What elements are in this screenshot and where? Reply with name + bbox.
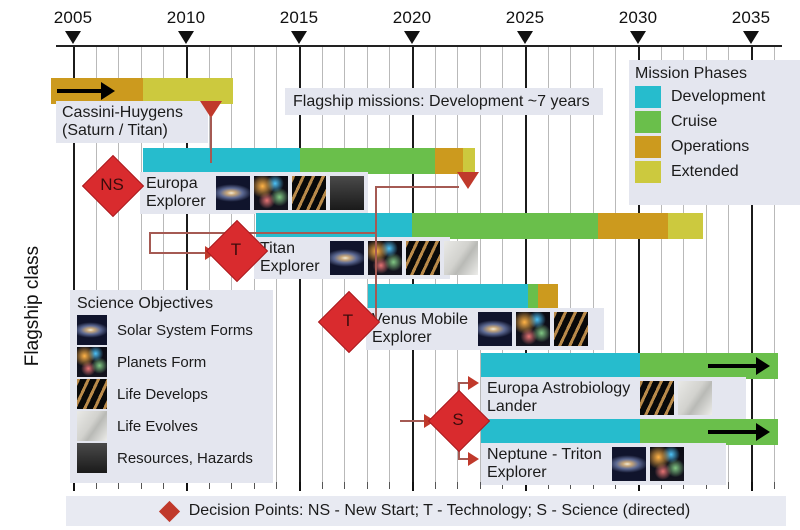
mission-bar-segment-cruise[interactable]	[412, 213, 598, 239]
legend-title: Mission Phases	[635, 65, 794, 83]
minor-tick	[276, 482, 277, 489]
minor-tick	[728, 482, 729, 489]
axis-tick-label-2015: 2015	[280, 8, 319, 28]
astronaut-thumbnail	[330, 176, 364, 210]
minor-tick	[186, 482, 188, 491]
legend-swatch-extended	[635, 161, 661, 183]
mission-name: Titan Explorer	[260, 240, 320, 276]
minor-tick	[163, 482, 164, 489]
axis-tick-marker-2035	[743, 31, 759, 44]
science-objective-label: Resources, Hazards	[117, 450, 253, 467]
legend-item[interactable]: Cruise	[635, 111, 794, 133]
astronaut-thumbnail	[77, 443, 107, 473]
continuation-arrow-icon	[708, 357, 770, 375]
mission-bar-segment-development[interactable]	[143, 148, 300, 174]
science-objectives-panel: Science Objectives Solar System FormsPla…	[70, 290, 273, 483]
planets-thumbnail	[368, 241, 402, 275]
objective-thumbnail-strip	[478, 312, 588, 346]
science-objective-label: Planets Form	[117, 354, 206, 371]
mission-bar-segment-operations[interactable]	[538, 284, 558, 310]
dna-thumbnail	[640, 381, 674, 415]
minor-tick	[254, 482, 255, 489]
minor-tick	[118, 482, 119, 489]
connector-ns-europa	[210, 117, 212, 163]
fossil-thumbnail	[444, 241, 478, 275]
galaxy-thumbnail	[216, 176, 250, 210]
legend-panel: Mission Phases DevelopmentCruiseOperatio…	[629, 60, 800, 205]
axis-tick-marker-2015	[291, 31, 307, 44]
mission-name: Cassini-Huygens (Saturn / Titan)	[62, 104, 183, 140]
minor-tick	[774, 482, 775, 489]
legend-label: Operations	[671, 138, 749, 156]
connector-europa-titan-h1	[149, 232, 377, 234]
mission-bar-segment-cruise[interactable]	[300, 148, 435, 174]
mission-name: Neptune - Triton Explorer	[487, 446, 602, 482]
legend-swatch-operations	[635, 136, 661, 158]
planets-thumbnail	[516, 312, 550, 346]
fossil-thumbnail	[678, 381, 712, 415]
science-objective-label: Life Evolves	[117, 418, 198, 435]
minor-tick	[344, 482, 345, 489]
legend-item[interactable]: Development	[635, 86, 794, 108]
decision-diamond-icon	[159, 500, 180, 521]
continuation-arrow-icon	[708, 423, 770, 441]
science-objective-label: Solar System Forms	[117, 322, 253, 339]
axis-tick-marker-2010	[178, 31, 194, 44]
science-objective-item[interactable]: Planets Form	[77, 347, 266, 377]
science-objective-item[interactable]: Solar System Forms	[77, 315, 266, 345]
objective-thumbnail-strip	[640, 381, 712, 415]
minor-tick	[457, 482, 458, 489]
galaxy-thumbnail	[330, 241, 364, 275]
mission-timeline-chart: Flagship class 2005201020152020202520302…	[0, 0, 800, 530]
europa-end-marker	[457, 172, 479, 189]
axis-tick-marker-2025	[517, 31, 533, 44]
connector-arrow-lander	[468, 376, 479, 390]
mission-bar-segment-development[interactable]	[256, 213, 412, 239]
mission-bar-segment-development[interactable]	[368, 284, 528, 310]
science-objectives-title: Science Objectives	[77, 295, 266, 313]
dna-thumbnail	[406, 241, 440, 275]
axis-tick-marker-2020	[404, 31, 420, 44]
mission-label-box[interactable]: Venus Mobile Explorer	[366, 308, 604, 350]
mission-bar-segment-development[interactable]	[481, 353, 640, 379]
legend-swatch-development	[635, 86, 661, 108]
connector-venus-h	[375, 186, 459, 188]
legend-item[interactable]: Operations	[635, 136, 794, 158]
mission-label-box[interactable]: Neptune - Triton Explorer	[481, 443, 726, 485]
galaxy-thumbnail	[77, 315, 107, 345]
dna-thumbnail	[77, 379, 107, 409]
objective-thumbnail-strip	[216, 176, 364, 210]
minor-tick	[209, 482, 210, 489]
galaxy-thumbnail	[612, 447, 646, 481]
connector-venus-v	[375, 186, 377, 319]
mission-bar-segment-operations[interactable]	[435, 148, 463, 174]
legend-label: Development	[671, 88, 765, 106]
minor-tick	[367, 482, 368, 489]
mission-name: Europa Explorer	[146, 175, 206, 211]
minor-tick	[231, 482, 232, 489]
mission-bar-segment-operations[interactable]	[598, 213, 668, 239]
dna-thumbnail	[292, 176, 326, 210]
minor-tick	[322, 482, 323, 489]
decision-point-label: NS	[91, 164, 133, 206]
axis-tick-label-2010: 2010	[167, 8, 206, 28]
science-objective-item[interactable]: Resources, Hazards	[77, 443, 266, 473]
mission-label-box[interactable]: Cassini-Huygens (Saturn / Titan)	[56, 101, 208, 143]
minor-tick	[389, 482, 390, 489]
minor-tick	[141, 482, 142, 489]
planets-thumbnail	[77, 347, 107, 377]
connector-europa-titan-v2	[149, 232, 151, 254]
axis-tick-label-2035: 2035	[732, 8, 771, 28]
minor-tick	[73, 482, 75, 491]
minor-tick	[299, 482, 301, 491]
objective-thumbnail-strip	[330, 241, 478, 275]
axis-tick-label-2005: 2005	[54, 8, 93, 28]
footer-text: Decision Points: NS - New Start; T - Tec…	[189, 502, 691, 520]
minor-tick	[412, 482, 414, 491]
connector-arrow-neptune	[468, 452, 479, 466]
minor-tick	[96, 482, 97, 489]
europa-start-marker	[200, 101, 222, 118]
axis-tick-label-2030: 2030	[619, 8, 658, 28]
mission-bar-segment-extended[interactable]	[668, 213, 703, 239]
mission-name: Europa Astrobiology Lander	[487, 380, 630, 416]
flagship-annotation: Flagship missions: Development ~7 years	[285, 88, 603, 115]
mission-bar-segment-extended[interactable]	[463, 148, 475, 174]
axis-tick-marker-2030	[630, 31, 646, 44]
mission-bar-segment-development[interactable]	[481, 419, 640, 445]
fossil-thumbnail	[77, 411, 107, 441]
mission-label-box[interactable]: Europa Explorer	[140, 172, 368, 214]
axis-tick-label-2020: 2020	[393, 8, 432, 28]
y-axis-label: Flagship class	[22, 231, 44, 381]
mission-label-box[interactable]: Titan Explorer	[254, 237, 450, 279]
science-objective-label: Life Develops	[117, 386, 208, 403]
planets-thumbnail	[650, 447, 684, 481]
science-objective-item[interactable]: Life Develops	[77, 379, 266, 409]
decision-point-label: T	[327, 300, 369, 342]
mission-label-box[interactable]: Europa Astrobiology Lander	[481, 377, 746, 419]
science-objective-item[interactable]: Life Evolves	[77, 411, 266, 441]
galaxy-thumbnail	[478, 312, 512, 346]
legend-label: Extended	[671, 163, 739, 181]
legend-swatch-cruise	[635, 111, 661, 133]
legend-item[interactable]: Extended	[635, 161, 794, 183]
legend-label: Cruise	[671, 113, 717, 131]
connector-europa-titan-h2	[149, 252, 211, 254]
continuation-arrow-icon	[57, 82, 115, 100]
dna-thumbnail	[554, 312, 588, 346]
planets-thumbnail	[254, 176, 288, 210]
axis-tick-marker-2005	[65, 31, 81, 44]
mission-bar-segment-cruise[interactable]	[528, 284, 538, 310]
decision-point-label: S	[437, 399, 479, 441]
footer-legend: Decision Points: NS - New Start; T - Tec…	[66, 496, 786, 526]
decision-point-label: T	[215, 229, 257, 271]
objective-thumbnail-strip	[612, 447, 684, 481]
minor-tick	[751, 482, 753, 491]
minor-tick	[435, 482, 436, 489]
axis-tick-label-2025: 2025	[506, 8, 545, 28]
mission-name: Venus Mobile Explorer	[372, 311, 468, 347]
